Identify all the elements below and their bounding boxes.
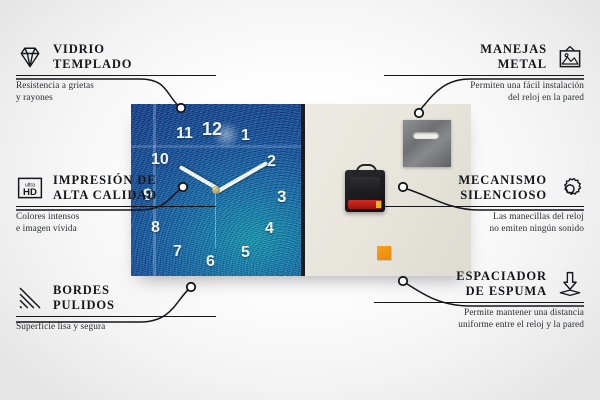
callout-title-line-2: DE ESPUMA	[456, 284, 547, 299]
callout-subtitle-line-2: uniforme entre el reloj y la pared	[374, 319, 584, 331]
clock-numeral-7: 7	[173, 244, 182, 260]
callout-manejas-metal: MANEJAS METAL Permiten una fácil instala…	[384, 42, 584, 105]
clock-numeral-12: 12	[202, 120, 222, 138]
clock-numeral-6: 6	[206, 254, 215, 270]
battery	[348, 200, 382, 209]
callout-subtitle: Resistencia a grietas y rayones	[16, 76, 216, 105]
callout-mecanismo-silencioso: MECANISMO SILENCIOSO Las manecillas del …	[384, 173, 584, 236]
callout-impresion-alta-calidad: ultra HD IMPRESIÓN DE ALTA CALIDAD Color…	[16, 173, 216, 236]
callout-subtitle-line-1: Las manecillas del reloj	[384, 211, 584, 223]
callout-title-line-1: MECANISMO	[458, 173, 547, 188]
callout-subtitle: Permite mantener una distancia uniforme …	[374, 303, 584, 332]
callout-subtitle-line-2: del reloj en la pared	[384, 92, 584, 104]
clock-numeral-3: 3	[277, 188, 286, 205]
quartz-movement	[345, 170, 385, 212]
clock-numeral-1: 1	[241, 128, 250, 144]
callout-subtitle-line-1: Permiten una fácil instalación	[384, 80, 584, 92]
beveled-edge-icon	[16, 284, 44, 312]
clock-numeral-5: 5	[241, 245, 250, 261]
callout-subtitle-line-2: y rayones	[16, 92, 216, 104]
clock-numeral-2: 2	[267, 154, 276, 170]
gear-icon	[556, 174, 584, 202]
callout-subtitle-line-2: no emiten ningún sonido	[384, 223, 584, 235]
ultra-hd-badge-icon: ultra HD	[16, 174, 44, 202]
callout-espaciador-espuma: ESPACIADOR DE ESPUMA Permite mantener un…	[374, 269, 584, 332]
callout-subtitle: Colores intensos e imagen vívida	[16, 207, 216, 236]
diamond-icon	[16, 43, 44, 71]
clock-numeral-4: 4	[265, 221, 274, 237]
callout-title-line-1: ESPACIADOR	[456, 269, 547, 284]
callout-subtitle-line-1: Superficie lisa y segura	[16, 321, 216, 333]
callout-subtitle: Superficie lisa y segura	[16, 317, 216, 333]
callout-title-line-1: BORDES	[53, 283, 115, 298]
callout-title-line-1: MANEJAS	[480, 42, 547, 57]
infographic-canvas: 12 1 2 3 4 5 6 7 8 9 10 11	[0, 0, 600, 400]
svg-text:HD: HD	[23, 187, 37, 198]
callout-title-line-1: IMPRESIÓN DE	[53, 173, 157, 188]
callout-subtitle-line-1: Permite mantener una distancia	[374, 307, 584, 319]
callout-title-line-2: METAL	[480, 57, 547, 72]
callout-title-line-2: PULIDOS	[53, 298, 115, 313]
down-arrow-layer-icon	[556, 270, 584, 298]
callout-vidrio-templado: VIDRIO TEMPLADO Resistencia a grietas y …	[16, 42, 216, 105]
battery-terminal	[376, 201, 381, 208]
callout-subtitle-line-1: Colores intensos	[16, 211, 216, 223]
movement-body	[350, 177, 380, 194]
foam-spacer	[377, 246, 391, 260]
callout-bordes-pulidos: BORDES PULIDOS Superficie lisa y segura	[16, 283, 216, 333]
callout-title-line-2: ALTA CALIDAD	[53, 188, 157, 203]
callout-subtitle: Permiten una fácil instalación del reloj…	[384, 76, 584, 105]
callout-subtitle-line-2: e imagen vívida	[16, 223, 216, 235]
callout-title-line-2: SILENCIOSO	[458, 188, 547, 203]
callout-title-line-2: TEMPLADO	[53, 57, 132, 72]
picture-frame-hanger-icon	[556, 43, 584, 71]
clock-numeral-10: 10	[151, 152, 169, 168]
callout-title-line-1: VIDRIO	[53, 42, 132, 57]
clock-numeral-11: 11	[176, 126, 193, 142]
hanger-slot	[413, 132, 439, 139]
callout-subtitle-line-1: Resistencia a grietas	[16, 80, 216, 92]
metal-hanger-plate	[403, 120, 451, 167]
callout-subtitle: Las manecillas del reloj no emiten ningú…	[384, 207, 584, 236]
clock-minute-hand	[216, 161, 268, 193]
movement-hanging-loop	[356, 164, 377, 175]
